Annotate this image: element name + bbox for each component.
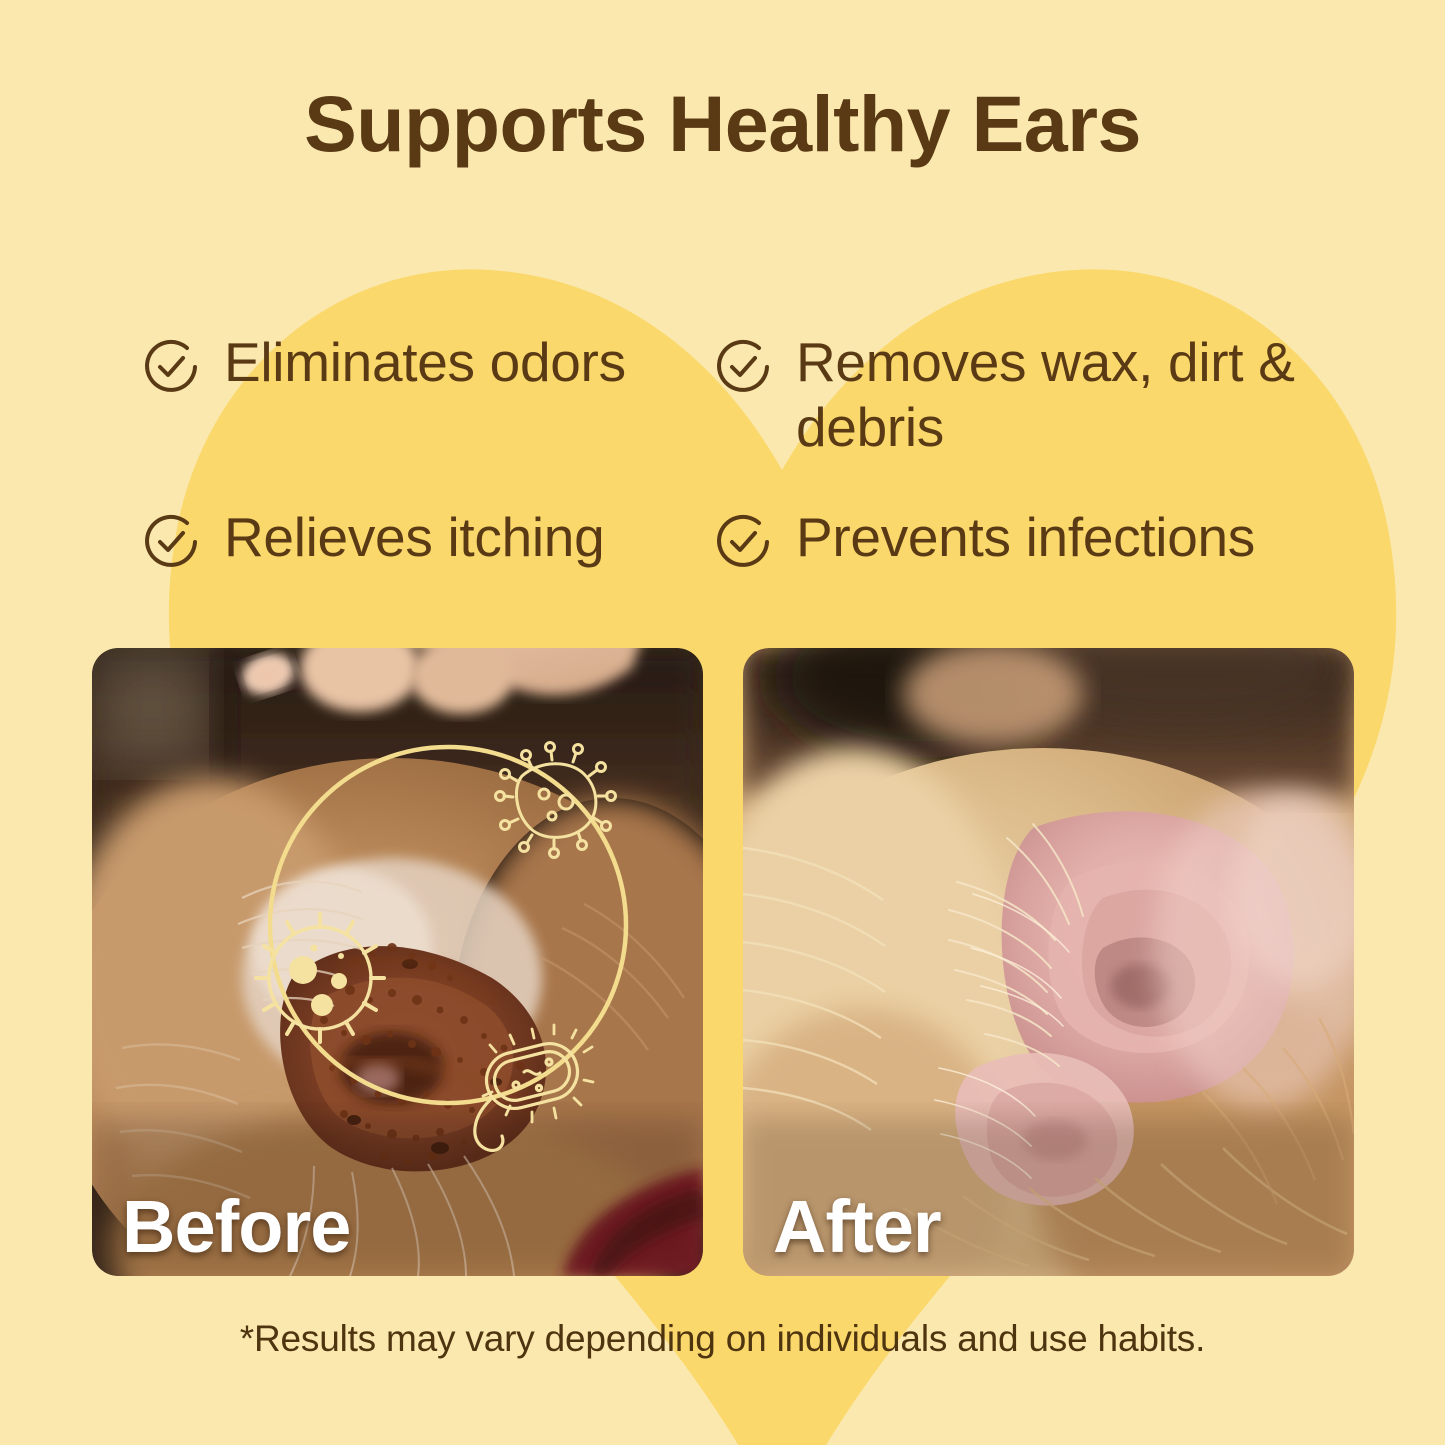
after-caption: After (773, 1190, 941, 1264)
feature-label: Removes wax, dirt & debris (796, 330, 1316, 460)
check-circle-icon (140, 511, 202, 573)
check-circle-icon (712, 336, 774, 398)
disclaimer-footnote: *Results may vary depending on individua… (0, 1318, 1445, 1360)
after-ear-photo (743, 648, 1354, 1276)
product-feature-graphic: Supports Healthy Ears Eliminates odors R… (0, 0, 1445, 1445)
check-circle-icon (712, 511, 774, 573)
before-after-comparison: Before (92, 648, 1354, 1276)
feature-list: Eliminates odors Removes wax, dirt & deb… (140, 330, 1320, 680)
check-circle-icon (140, 336, 202, 398)
after-photo-panel: After (743, 648, 1354, 1276)
feature-label: Relieves itching (224, 505, 604, 570)
feature-item-eliminates-odors: Eliminates odors (140, 330, 712, 505)
feature-item-removes-wax-dirt-debris: Removes wax, dirt & debris (712, 330, 1320, 505)
before-ear-photo (92, 648, 703, 1276)
before-photo-panel: Before (92, 648, 703, 1276)
feature-label: Prevents infections (796, 505, 1255, 570)
feature-label: Eliminates odors (224, 330, 626, 395)
before-caption: Before (122, 1190, 350, 1264)
page-title: Supports Healthy Ears (0, 84, 1445, 163)
